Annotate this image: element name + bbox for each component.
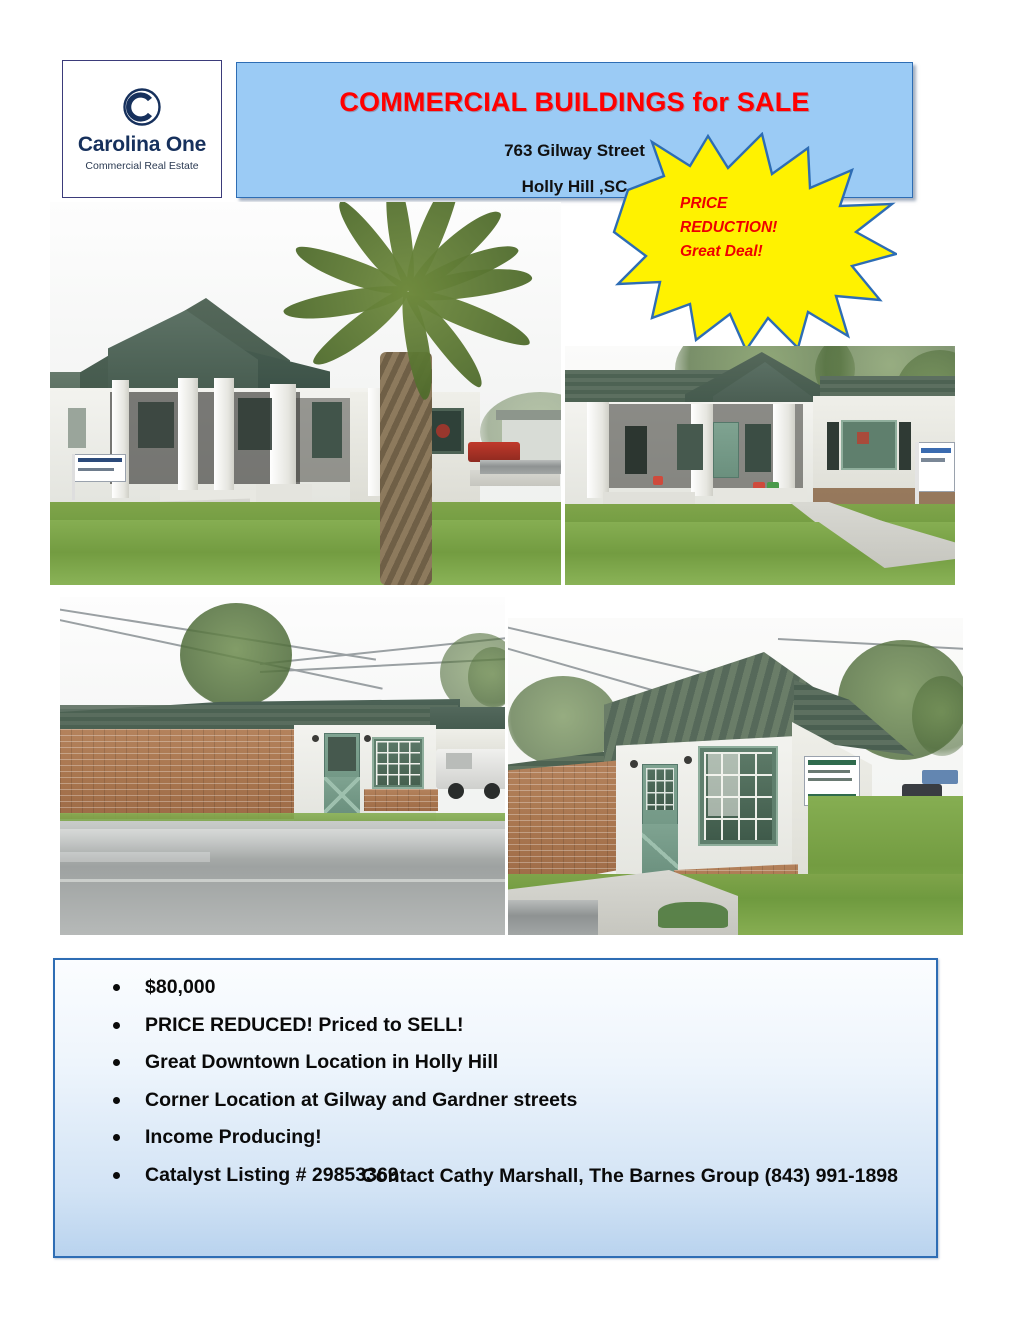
page-title: COMMERCIAL BUILDINGS for SALE bbox=[237, 87, 912, 118]
photo-front-exterior-porch bbox=[565, 346, 955, 585]
bullet-icon bbox=[113, 1059, 120, 1066]
photo-brick-building-corner bbox=[508, 618, 963, 935]
bullet-icon bbox=[113, 1134, 120, 1141]
brand-tagline: Commercial Real Estate bbox=[85, 161, 198, 172]
bullet-icon bbox=[113, 1022, 120, 1029]
photo-brick-building-street bbox=[60, 597, 505, 935]
list-item: Corner Location at Gilway and Gardner st… bbox=[113, 1091, 936, 1111]
listing-bullet-list: $80,000 PRICE REDUCED! Priced to SELL! G… bbox=[55, 960, 936, 1185]
list-item: Great Downtown Location in Holly Hill bbox=[113, 1053, 936, 1073]
list-item-label: $80,000 bbox=[145, 976, 216, 998]
brand-logo-box: Carolina One Commercial Real Estate bbox=[62, 60, 222, 198]
listing-details-panel: $80,000 PRICE REDUCED! Priced to SELL! G… bbox=[53, 958, 938, 1258]
starburst-line-2: REDUCTION! bbox=[680, 216, 830, 240]
flyer-page: Carolina One Commercial Real Estate COMM… bbox=[0, 0, 1024, 1325]
list-item: PRICE REDUCED! Priced to SELL! bbox=[113, 1016, 936, 1036]
photo-front-exterior-palm bbox=[50, 202, 561, 585]
list-item-label: PRICE REDUCED! Priced to SELL! bbox=[145, 1014, 464, 1036]
contact-line: Contact Cathy Marshall, The Barnes Group… bbox=[55, 1165, 898, 1188]
list-item-label: Corner Location at Gilway and Gardner st… bbox=[145, 1089, 577, 1111]
list-item-label: Income Producing! bbox=[145, 1126, 322, 1148]
starburst-text: PRICE REDUCTION! Great Deal! bbox=[680, 192, 830, 264]
bullet-icon bbox=[113, 984, 120, 991]
list-item: $80,000 bbox=[113, 978, 936, 998]
bullet-icon bbox=[113, 1097, 120, 1104]
starburst-line-3: Great Deal! bbox=[680, 240, 830, 264]
list-item: Income Producing! bbox=[113, 1128, 936, 1148]
starburst-line-1: PRICE bbox=[680, 192, 830, 216]
price-reduction-starburst: PRICE REDUCTION! Great Deal! bbox=[612, 132, 897, 352]
circled-c-logo-icon bbox=[121, 86, 163, 128]
list-item-label: Great Downtown Location in Holly Hill bbox=[145, 1051, 498, 1073]
brand-name: Carolina One bbox=[78, 134, 206, 155]
